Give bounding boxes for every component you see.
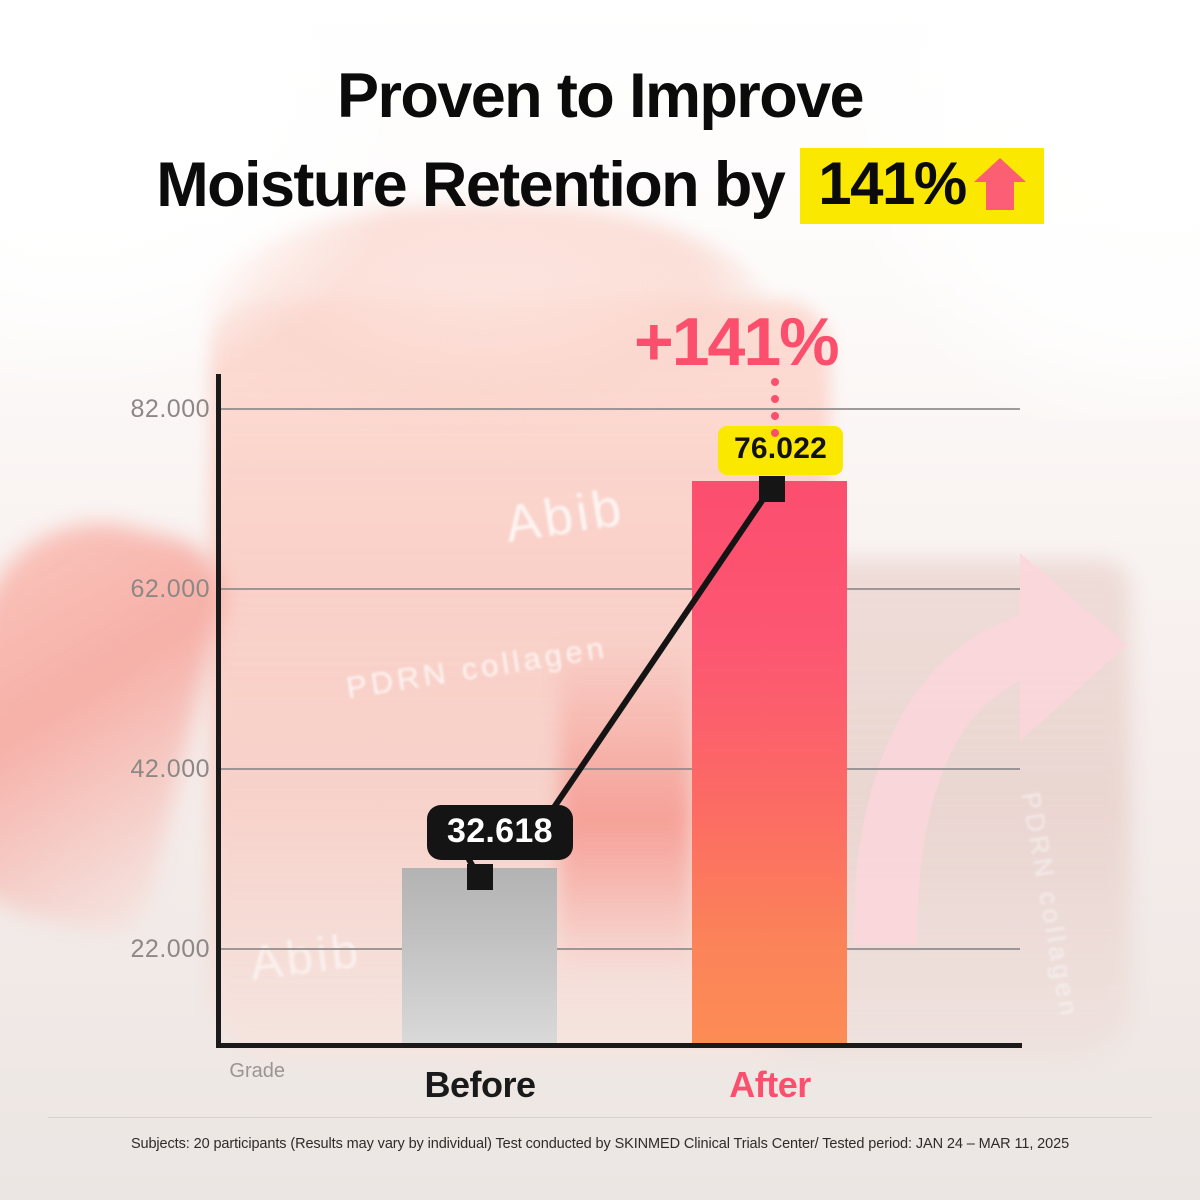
up-arrow-icon [972,154,1028,214]
data-point-marker-before [467,864,493,890]
y-tick-label-3: 22.000 [60,935,210,964]
delta-percent-callout: +141% [634,303,838,381]
bar-after[interactable] [692,481,847,1043]
x-axis-title-grade: Grade [170,1060,285,1083]
y-tick-label-0: 82.000 [60,395,210,424]
y-tick-label-2: 42.000 [60,755,210,784]
value-badge-before: 32.618 [427,805,573,860]
y-tick-label-1: 62.000 [60,575,210,604]
x-category-label-after: After [694,1064,846,1106]
infographic-canvas: Abib PDRN collagen Abib PDRN collagen Pr… [0,0,1200,1200]
headline-percent-value: 141% [818,154,965,214]
headline-percent-badge: 141% [800,148,1043,224]
bar-before[interactable] [402,868,557,1043]
headline-line-2-text: Moisture Retention by [156,141,784,230]
data-point-marker-after [759,476,785,502]
headline-block: Proven to Improve Moisture Retention by … [0,52,1200,231]
delta-connector-dots [771,378,779,430]
value-badge-after: 76.022 [718,426,843,475]
x-category-label-before: Before [405,1064,555,1106]
headline-line-2: Moisture Retention by 141% [0,141,1200,230]
headline-line-1: Proven to Improve [0,52,1200,141]
